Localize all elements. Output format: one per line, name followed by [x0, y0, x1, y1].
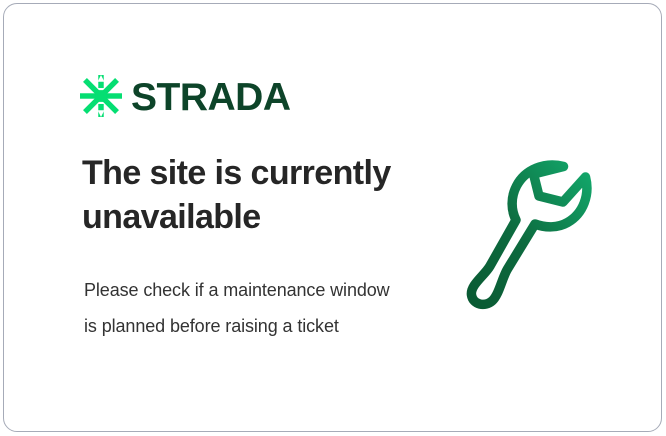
page-title: The site is currently unavailable: [82, 152, 432, 239]
status-card: STRADA The site is currently unavailable…: [3, 3, 662, 432]
starburst-asterisk-icon: [80, 75, 122, 117]
page-description: Please check if a maintenance window is …: [84, 272, 394, 344]
wrench-illustration: [459, 154, 619, 314]
brand-wordmark: STRADA: [131, 78, 291, 117]
brand-logo: STRADA: [80, 72, 291, 120]
maintenance-page: STRADA The site is currently unavailable…: [0, 0, 666, 436]
wrench-icon: [471, 165, 586, 304]
